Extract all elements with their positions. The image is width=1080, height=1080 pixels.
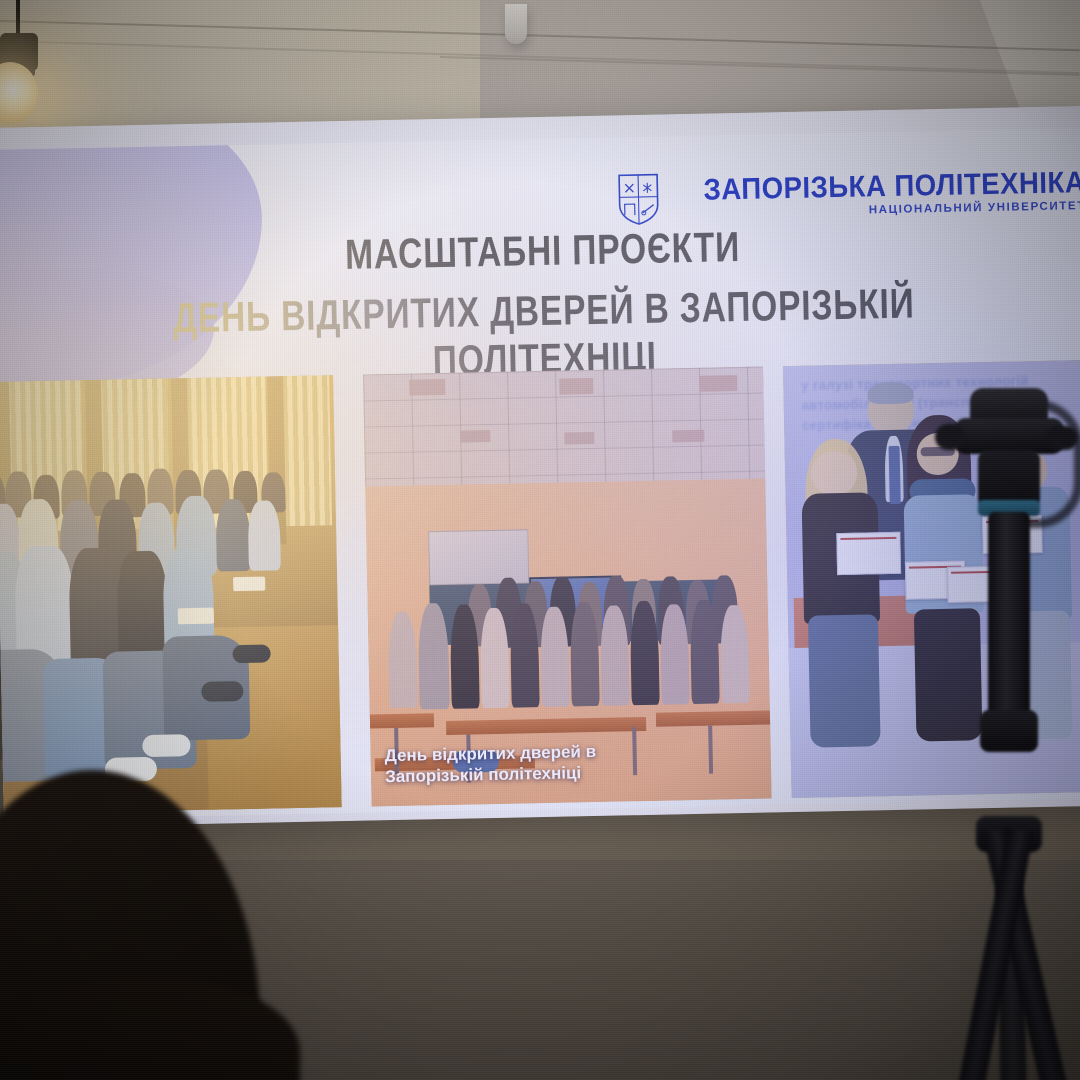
presentation-slide: ЗАПОРІЗЬКА ПОЛІТЕХНІКА НАЦІОНАЛЬНИЙ УНІВ… [0, 128, 1080, 820]
ceiling-tiles [363, 367, 765, 487]
ceiling-sensor-icon [505, 4, 527, 44]
logo-subtitle: НАЦІОНАЛЬНИЙ УНІВЕРСИТЕТ [869, 201, 1080, 217]
projection-screen: ЗАПОРІЗЬКА ПОЛІТЕХНІКА НАЦІОНАЛЬНИЙ УНІВ… [0, 106, 1080, 828]
whiteboard [428, 529, 529, 585]
tripod-knob [1046, 426, 1078, 450]
logo-title: ЗАПОРІЗЬКА ПОЛІТЕХНІКА [703, 168, 1080, 206]
slide-photo-row: День відкритих дверей в Запорізькій полі… [0, 360, 1080, 814]
shield-crest-icon [616, 171, 661, 228]
presentation-room-photo: ЗАПОРІЗЬКА ПОЛІТЕХНІКА НАЦІОНАЛЬНИЙ УНІВ… [0, 0, 1080, 1080]
university-logo: ЗАПОРІЗЬКА ПОЛІТЕХНІКА НАЦІОНАЛЬНИЙ УНІВ… [616, 162, 1080, 227]
camera-tripod [930, 380, 1080, 1080]
photo-classroom-group: День відкритих дверей в Запорізькій полі… [363, 367, 772, 807]
tripod-clamp [980, 710, 1038, 752]
tripod-knob [935, 424, 965, 450]
photo-caption: День відкритих дверей в Запорізькій полі… [384, 740, 596, 788]
tripod-center-column [988, 512, 1030, 737]
photo-caption-line2: Запорізькій політехніці [385, 762, 597, 788]
photo-auditorium-audience [0, 375, 342, 814]
